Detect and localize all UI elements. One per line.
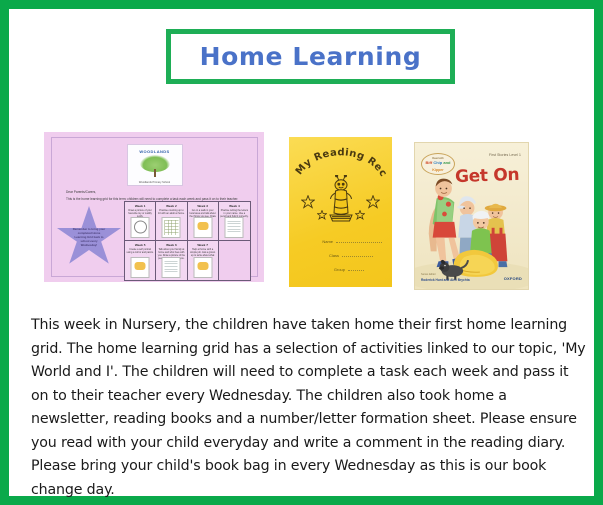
task-week-label: Week 2 bbox=[158, 204, 185, 208]
task-thumbnail bbox=[193, 257, 212, 278]
school-logo-icon: WOODLANDS Woodlands Primary School bbox=[127, 144, 183, 186]
task-week-label: Week 4 bbox=[220, 204, 248, 208]
task-week-label: Week 6 bbox=[158, 243, 185, 247]
book-publisher-logo: OXFORD bbox=[504, 276, 522, 281]
task-grid-table: Week 1 Draw a picture of your favourite … bbox=[124, 201, 251, 281]
body-paragraph: This week in Nursery, the children have … bbox=[31, 314, 587, 502]
home-learning-grid-image: WOODLANDS Woodlands Primary School Dear … bbox=[44, 132, 264, 282]
task-cell: Week 6 Talk about your family at home an… bbox=[156, 241, 187, 280]
task-cell: Week 1 Draw a picture of your favourite … bbox=[125, 202, 156, 241]
task-cell: Week 2 Practise counting up to 10 with a… bbox=[156, 202, 187, 241]
reading-record-field-class: Class bbox=[303, 251, 382, 258]
task-description: Create a self portrait using a mirror an… bbox=[127, 248, 154, 254]
task-thumbnail bbox=[131, 217, 150, 238]
task-cell: Week 7 Help at home with a simple job. A… bbox=[188, 241, 219, 280]
tree-trunk-icon bbox=[154, 169, 156, 177]
task-thumbnail bbox=[162, 217, 181, 238]
task-cell: Week 4 Practise writing the letters in y… bbox=[219, 202, 250, 241]
field-line bbox=[348, 265, 364, 271]
task-description: Practise counting up to 10 with an adult… bbox=[158, 209, 185, 215]
field-line bbox=[336, 237, 382, 243]
school-logo-caption: Woodlands Primary School bbox=[128, 181, 182, 184]
field-label: Name bbox=[303, 239, 336, 244]
grid-sheet-page: WOODLANDS Woodlands Primary School Dear … bbox=[51, 137, 258, 277]
get-on-book-cover-image: Read with Biff Chip and Kipper First Sto… bbox=[414, 142, 529, 290]
task-week-label: Week 1 bbox=[127, 204, 154, 208]
reading-record-fields: Name Class Group bbox=[303, 237, 382, 279]
field-line bbox=[342, 251, 373, 257]
task-cell: Week 3 Go on a walk in your local area a… bbox=[188, 202, 219, 241]
task-week-label: Week 7 bbox=[189, 243, 216, 247]
page-title-box: Home Learning bbox=[166, 29, 455, 84]
field-label: Group bbox=[303, 267, 348, 272]
task-cell: Week 5 Create a self portrait using a mi… bbox=[125, 241, 156, 280]
star-icon bbox=[317, 210, 327, 220]
reading-record-image: My Reading Record bbox=[289, 137, 392, 287]
task-week-label: Week 3 bbox=[189, 204, 216, 208]
star-icon bbox=[301, 195, 315, 209]
star-shape: Remember to bring your completed Home Le… bbox=[57, 206, 121, 268]
field-label: Class bbox=[303, 253, 342, 258]
book-authors: Series Editor Roderick Hunt and Alex Bry… bbox=[421, 273, 470, 282]
task-cell-empty bbox=[219, 241, 250, 280]
star-text: Remember to bring your completed Home Le… bbox=[72, 227, 106, 247]
page-title: Home Learning bbox=[200, 42, 422, 71]
bookworm-icon bbox=[326, 175, 356, 223]
task-thumbnail bbox=[225, 217, 244, 238]
task-week-label: Week 5 bbox=[127, 243, 154, 247]
task-thumbnail bbox=[131, 257, 150, 278]
task-thumbnail bbox=[193, 217, 212, 238]
svg-text:My Reading Record: My Reading Record bbox=[289, 146, 389, 179]
task-thumbnail bbox=[162, 257, 181, 278]
grid-intro-line-1: Dear Parents/Carers, bbox=[66, 190, 96, 194]
book-author-names: Roderick Hunt and Alex Brychta bbox=[421, 278, 470, 282]
reading-record-field-group: Group bbox=[303, 265, 382, 272]
book-series-label: Series Editor bbox=[421, 273, 470, 277]
star-icon bbox=[366, 195, 380, 209]
book-cover-illustration bbox=[415, 143, 528, 289]
home-learning-poster: Home Learning WOODLANDS Woodlands Primar… bbox=[0, 0, 603, 505]
reading-record-field-name: Name bbox=[303, 237, 382, 244]
star-icon bbox=[355, 210, 365, 220]
